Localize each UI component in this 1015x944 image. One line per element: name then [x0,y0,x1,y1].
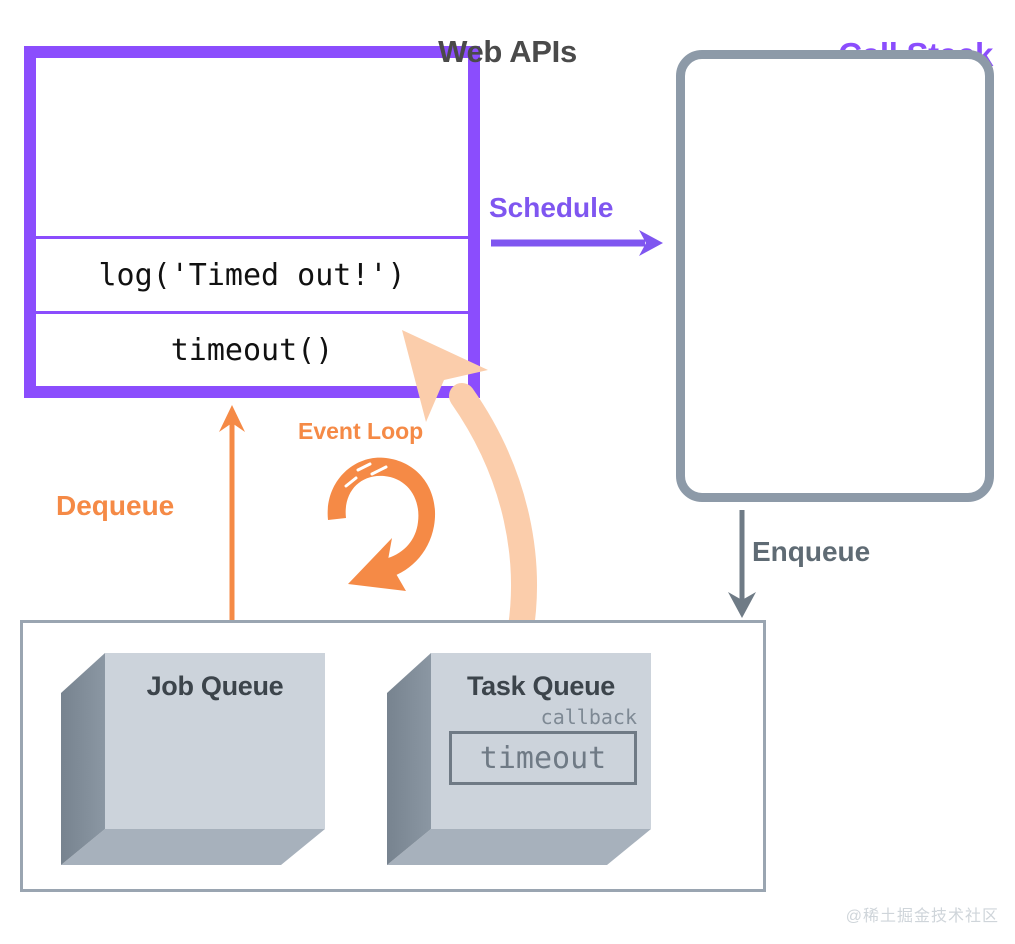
task-queue-callback-label: callback [541,705,637,729]
task-queue-callback-item: timeout [449,731,637,785]
diagram-canvas: log('Timed out!') timeout() Call Stack W… [0,0,1015,944]
circular-arrow-icon [310,448,442,593]
cube-front-face: Task Queue callback timeout [431,653,651,829]
call-stack-empty-space [36,58,468,236]
web-apis-title: Web APIs [0,34,1015,70]
dequeue-arrow-icon [214,404,250,624]
watermark: @稀土掘金技术社区 [846,902,999,926]
queues-container: Job Queue Task Queue callback timeout [20,620,766,892]
schedule-arrow-icon [489,228,665,258]
call-stack-box: log('Timed out!') timeout() [24,46,480,398]
enqueue-arrow-icon [722,508,762,620]
task-queue-cube: Task Queue callback timeout [387,653,651,865]
job-queue-title: Job Queue [105,671,325,702]
cube-front-face: Job Queue [105,653,325,829]
web-apis-box [676,50,994,502]
call-stack-frame: timeout() [36,311,468,386]
schedule-label: Schedule [489,192,613,224]
dequeue-label: Dequeue [56,490,174,522]
cube-left-face [387,653,431,865]
call-stack-frame: log('Timed out!') [36,236,468,311]
cube-left-face [61,653,105,865]
event-loop-label: Event Loop [298,418,423,445]
job-queue-cube: Job Queue [61,653,325,865]
task-queue-title: Task Queue [431,671,651,702]
enqueue-label: Enqueue [752,536,870,568]
